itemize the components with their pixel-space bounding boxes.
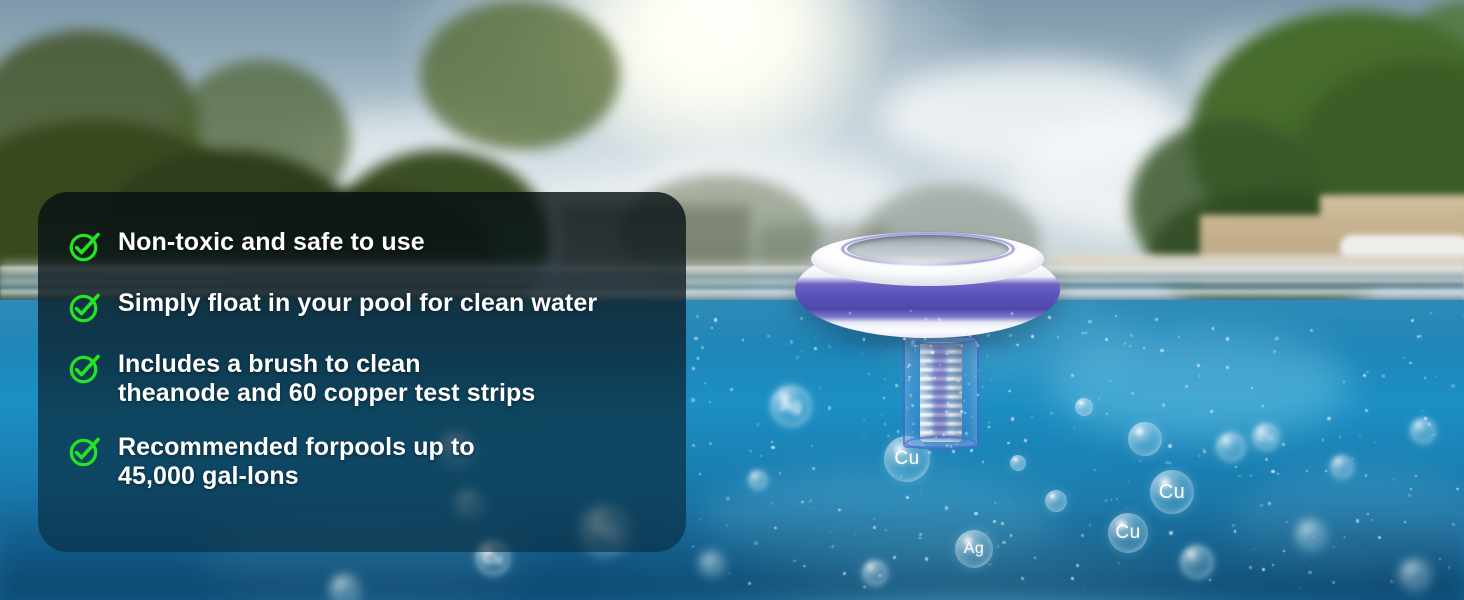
water-sparkle (931, 351, 934, 354)
feature-label: Includes a brush to clean theanode and 6… (118, 350, 535, 407)
water-sparkle (961, 345, 963, 347)
water-sparkle (832, 545, 834, 547)
water-sparkle (1415, 475, 1417, 477)
water-sparkle (1131, 392, 1134, 395)
water-sparkle (925, 318, 926, 319)
water-sparkle (1169, 531, 1172, 534)
water-sparkle (1071, 577, 1074, 580)
water-sparkle (709, 442, 712, 445)
water-sparkle (742, 339, 744, 341)
device-highlight (835, 258, 985, 276)
water-bubble (1330, 455, 1354, 479)
water-sparkle (952, 450, 954, 452)
water-bubble (1400, 560, 1430, 590)
water-sparkle (1404, 521, 1406, 523)
water-sparkle (887, 435, 890, 438)
feature-label: Recommended forpools up to 45,000 gal-lo… (118, 433, 475, 490)
water-sparkle (1168, 444, 1172, 448)
water-sparkle (903, 338, 905, 340)
water-sparkle (771, 446, 775, 450)
water-sparkle (1031, 335, 1034, 338)
water-sparkle (1306, 470, 1307, 471)
water-sparkle (1162, 403, 1166, 407)
water-sparkle (910, 310, 912, 312)
water-sparkle (884, 378, 886, 380)
water-sparkle (987, 355, 989, 357)
water-sparkle (1262, 405, 1264, 407)
water-sparkle (1011, 312, 1013, 314)
water-sparkle (988, 422, 989, 423)
water-sparkle (1212, 327, 1215, 330)
water-sparkle (849, 312, 851, 314)
water-sparkle (1143, 347, 1145, 349)
water-sparkle (897, 430, 900, 433)
water-sparkle (959, 431, 961, 433)
water-sparkle (1088, 320, 1091, 323)
water-sparkle (987, 532, 988, 533)
water-sparkle (691, 398, 694, 401)
water-sparkle (820, 387, 821, 388)
water-sparkle (910, 394, 912, 396)
water-sparkle (1254, 548, 1255, 549)
water-sparkle (815, 337, 816, 338)
water-sparkle (692, 367, 695, 370)
water-sparkle (885, 529, 887, 531)
water-sparkle (965, 432, 968, 435)
water-bubble (1128, 422, 1162, 456)
tree-foliage (420, 0, 620, 150)
water-sparkle (938, 318, 941, 321)
water-sparkle (1274, 339, 1276, 341)
water-sparkle (1057, 336, 1059, 338)
water-sparkle (977, 344, 979, 346)
water-sparkle (714, 318, 717, 321)
water-sparkle (1332, 581, 1335, 584)
water-sparkle (1417, 335, 1420, 338)
water-sparkle (950, 445, 953, 448)
water-sparkle (1016, 344, 1018, 346)
water-sparkle (1197, 364, 1200, 367)
coil-core (933, 346, 947, 438)
water-sparkle (995, 502, 997, 504)
water-sparkle (1403, 357, 1405, 359)
feature-item-float: Simply float in your pool for clean wate… (68, 289, 656, 324)
water-sparkle (1271, 470, 1274, 473)
water-sparkle (1094, 469, 1096, 471)
water-sparkle (1363, 374, 1366, 377)
water-sparkle (901, 379, 902, 380)
water-sparkle (1105, 338, 1108, 341)
water-sparkle (957, 379, 960, 382)
water-sparkle (1178, 336, 1180, 338)
water-sparkle (873, 518, 875, 520)
water-sparkle (711, 327, 713, 329)
feature-item-capacity: Recommended forpools up to 45,000 gal-lo… (68, 433, 656, 490)
feature-item-brush: Includes a brush to clean theanode and 6… (68, 350, 656, 407)
water-sparkle (1275, 337, 1278, 340)
water-sparkle (953, 350, 954, 351)
water-sparkle (956, 443, 957, 444)
water-sparkle (1007, 442, 1009, 444)
check-circle-icon (68, 434, 102, 468)
water-bubble (748, 470, 768, 490)
water-sparkle (730, 388, 732, 390)
water-sparkle (1359, 434, 1361, 436)
feature-item-non-toxic: Non-toxic and safe to use (68, 228, 656, 263)
water-sparkle (1356, 519, 1359, 522)
water-sparkle (1430, 312, 1432, 314)
water-bubble (1010, 455, 1026, 471)
water-bubble (330, 575, 360, 600)
water-sparkle (970, 449, 973, 452)
feature-list-panel: Non-toxic and safe to use Simply float i… (38, 192, 686, 552)
water-sparkle (771, 441, 773, 443)
water-ripple (1040, 283, 1464, 286)
water-bubble (700, 552, 724, 576)
water-sparkle (1098, 398, 1100, 400)
water-sparkle (946, 444, 948, 446)
water-sparkle (945, 410, 947, 412)
water-sparkle (906, 496, 909, 499)
water-sparkle (1382, 374, 1386, 378)
water-bubble (1410, 418, 1436, 444)
water-bubble (1296, 520, 1326, 550)
check-circle-icon (68, 229, 102, 263)
ion-bubble-cu: Cu (1108, 513, 1148, 553)
water-sparkle (1448, 566, 1450, 568)
product-banner: AgCuAgCuCuCuAgCu Non-toxic and safe to u… (0, 0, 1464, 600)
water-sparkle (963, 400, 965, 402)
water-sparkle (893, 556, 895, 558)
water-sparkle (810, 508, 811, 509)
water-sparkle (748, 582, 750, 584)
anode-cage (903, 336, 979, 454)
water-sparkle (1250, 475, 1251, 476)
water-sparkle (900, 475, 902, 477)
water-sparkle (1011, 417, 1014, 420)
water-sparkle (1282, 443, 1285, 446)
floating-ionizer-device (795, 232, 1060, 352)
water-sparkle (1408, 494, 1410, 496)
ion-bubble-cu: Cu (1252, 423, 1280, 451)
water-sparkle (972, 416, 973, 417)
water-sparkle (843, 572, 846, 575)
water-sparkle (911, 340, 915, 344)
water-sparkle (976, 441, 977, 442)
water-sparkle (930, 345, 932, 347)
water-sparkle (914, 345, 916, 347)
water-sparkle (790, 340, 793, 343)
check-circle-icon (68, 290, 102, 324)
water-sparkle (1367, 513, 1369, 515)
water-bubble (862, 560, 888, 586)
water-sparkle (1185, 385, 1188, 388)
water-sparkle (1002, 541, 1005, 544)
water-sparkle (1105, 499, 1107, 501)
water-sparkle (1024, 439, 1027, 442)
water-bubble (1045, 490, 1067, 512)
water-sparkle (1232, 524, 1234, 526)
check-circle-icon (68, 351, 102, 385)
water-sparkle (930, 350, 931, 351)
water-sparkle (922, 364, 924, 366)
water-sparkle (911, 404, 914, 407)
water-sparkle (1365, 409, 1368, 412)
water-sparkle (1299, 588, 1300, 589)
water-sparkle (1424, 377, 1426, 379)
water-sparkle (800, 317, 803, 320)
ion-bubble-ag: Ag (955, 530, 993, 568)
water-sparkle (767, 335, 770, 338)
water-sparkle (1327, 417, 1330, 420)
water-sparkle (1433, 434, 1435, 436)
water-sparkle (993, 520, 996, 523)
water-sparkle (862, 353, 863, 354)
water-sparkle (754, 541, 758, 545)
water-bubble (1216, 432, 1246, 462)
water-sparkle (1048, 316, 1052, 320)
water-sparkle (934, 377, 936, 379)
water-sparkle (1456, 488, 1458, 490)
water-sparkle (1076, 564, 1079, 567)
water-sparkle (1390, 580, 1392, 582)
water-bubble (1180, 545, 1214, 579)
water-sparkle (1001, 522, 1004, 525)
water-bubble (1075, 398, 1093, 416)
water-sparkle (1226, 337, 1229, 340)
ion-bubble-cu: Cu (1150, 470, 1194, 514)
water-sparkle (694, 337, 698, 341)
water-sparkle (1084, 587, 1086, 589)
water-sparkle (812, 467, 815, 470)
water-sparkle (1081, 534, 1084, 537)
water-sparkle (1439, 558, 1441, 560)
water-sparkle (696, 315, 699, 318)
water-sparkle (930, 430, 931, 431)
water-sparkle (796, 356, 799, 359)
water-sparkle (1008, 390, 1011, 393)
feature-label: Non-toxic and safe to use (118, 228, 425, 257)
water-sparkle (1451, 384, 1455, 388)
water-sparkle (1410, 488, 1412, 490)
water-sparkle (1322, 439, 1324, 441)
feature-label: Simply float in your pool for clean wate… (118, 289, 597, 318)
water-sparkle (1308, 571, 1312, 575)
water-sparkle (1260, 504, 1263, 507)
water-sparkle (726, 497, 729, 500)
water-sparkle (1137, 526, 1138, 527)
cage-bottom-ring (905, 436, 977, 450)
water-sparkle (987, 334, 990, 337)
water-sparkle (982, 386, 983, 387)
water-sparkle (915, 349, 916, 350)
water-sparkle (828, 406, 831, 409)
water-sparkle (919, 533, 922, 536)
water-sparkle (1034, 578, 1035, 579)
water-sparkle (1234, 530, 1236, 532)
water-sparkle (947, 378, 950, 381)
water-sparkle (878, 574, 881, 577)
water-sparkle (908, 376, 911, 379)
water-sparkle (1085, 332, 1087, 334)
water-sparkle (947, 402, 949, 404)
water-sparkle (709, 401, 711, 403)
water-sparkle (692, 546, 693, 547)
ion-bubble-ag: Ag (770, 385, 812, 427)
